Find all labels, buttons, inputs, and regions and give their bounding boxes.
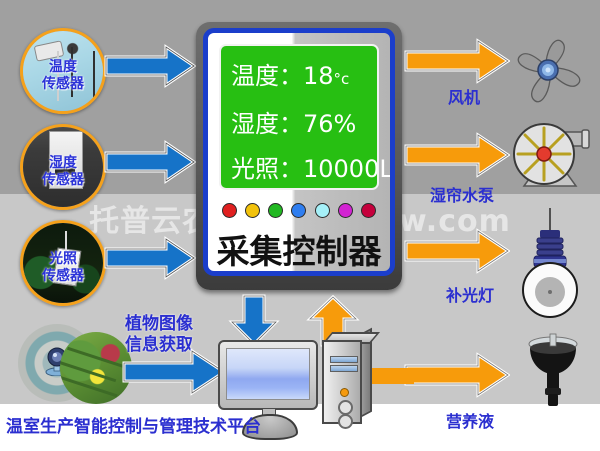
- lcd-temperature-unit: °c: [334, 70, 350, 88]
- lcd-temperature-value: 18: [303, 62, 334, 90]
- tower-drive-slot-1: [330, 356, 358, 363]
- tower-front-panel: [322, 340, 362, 424]
- lcd-humidity-sep: ：: [279, 110, 303, 138]
- controller-name-label: 采集控制器: [208, 225, 390, 273]
- led-indicator-5: [315, 203, 330, 218]
- led-indicator-row: [222, 203, 376, 218]
- sensor-light-line1: 光照: [23, 251, 103, 268]
- tower-button-2[interactable]: [338, 414, 353, 429]
- led-indicator-4: [291, 203, 306, 218]
- lcd-humidity-value: 76: [303, 110, 334, 138]
- arrow-light-to-controller: [104, 236, 196, 280]
- arrow-capture-to-monitor: [122, 348, 226, 396]
- led-indicator-3: [268, 203, 283, 218]
- lcd-row-temperature: 温度：18°c: [231, 54, 377, 102]
- sensor-light-line2: 传感器: [23, 268, 103, 285]
- computer-tower-icon[interactable]: [322, 332, 372, 424]
- arrow-temperature-to-controller: [104, 44, 196, 88]
- sensor-temperature-label: 温度 传感器: [23, 59, 103, 93]
- water-pump-icon[interactable]: [500, 120, 596, 204]
- sensor-temperature[interactable]: 温度 传感器: [20, 28, 106, 114]
- lcd-light-sep: ：: [279, 155, 303, 183]
- arrow-controller-to-fan: [404, 38, 510, 84]
- led-indicator-1: [222, 203, 237, 218]
- nutrient-label: 营养液: [446, 408, 494, 432]
- led-indicator-6: [338, 203, 353, 218]
- water-pump-label: 湿帘水泵: [430, 182, 494, 206]
- arrow-controller-to-grow-light: [404, 228, 510, 274]
- tower-power-led: [340, 388, 349, 397]
- lcd-light-value: 10000: [303, 155, 379, 183]
- dripper-nozzle-icon[interactable]: [518, 330, 588, 412]
- tower-button-1[interactable]: [338, 400, 353, 415]
- data-acquisition-controller[interactable]: 温度：18°c 湿度：76% 光照：10000LX 采集控制器: [196, 22, 402, 290]
- lcd-display: 温度：18°c 湿度：76% 光照：10000LX: [219, 44, 379, 190]
- led-indicator-2: [245, 203, 260, 218]
- arrow-humidity-to-controller: [104, 140, 196, 184]
- grow-light-label: 补光灯: [446, 282, 494, 306]
- monitor-screen: [226, 348, 310, 400]
- lcd-humidity-label: 湿度: [231, 110, 279, 138]
- diagram-canvas: 托普云农 www.tpwlw.com 温度 传感器 湿度 传感器 光照 传感器: [0, 0, 600, 451]
- fan-label: 风机: [448, 84, 480, 108]
- lcd-humidity-unit: %: [334, 110, 357, 138]
- controller-face: 温度：18°c 湿度：76% 光照：10000LX 采集控制器: [203, 28, 395, 276]
- lcd-light-unit: LX: [379, 155, 395, 183]
- sensor-temperature-line2: 传感器: [23, 76, 103, 93]
- lcd-temperature-sep: ：: [279, 62, 303, 90]
- sensor-humidity-line1: 湿度: [23, 155, 103, 172]
- led-indicator-7: [361, 203, 376, 218]
- lcd-row-humidity: 湿度：76%: [231, 102, 377, 147]
- platform-caption: 温室生产智能控制与管理技术平台: [6, 412, 261, 437]
- monitor-frame: [218, 340, 318, 410]
- sensor-light[interactable]: 光照 传感器: [20, 220, 106, 306]
- sensor-humidity-label: 湿度 传感器: [23, 155, 103, 189]
- sensor-temperature-line1: 温度: [23, 59, 103, 76]
- lcd-light-label: 光照: [231, 155, 279, 183]
- arrow-tower-to-nutrient-stub: [370, 366, 414, 386]
- sensor-light-label: 光照 传感器: [23, 251, 103, 285]
- tower-drive-slot-2: [330, 365, 358, 372]
- fan-icon[interactable]: [506, 28, 590, 116]
- arrow-controller-down-to-monitor: [228, 294, 280, 346]
- arrow-controller-to-nutrient: [404, 352, 510, 398]
- light-bulb-icon[interactable]: [512, 208, 588, 322]
- arrow-controller-to-pump: [404, 132, 510, 178]
- lcd-temperature-label: 温度: [231, 62, 279, 90]
- lcd-row-light: 光照：10000LX: [231, 147, 377, 192]
- plant-capture-line1: 植物图像: [125, 314, 193, 335]
- sensor-humidity[interactable]: 湿度 传感器: [20, 124, 106, 210]
- sensor-humidity-line2: 传感器: [23, 172, 103, 189]
